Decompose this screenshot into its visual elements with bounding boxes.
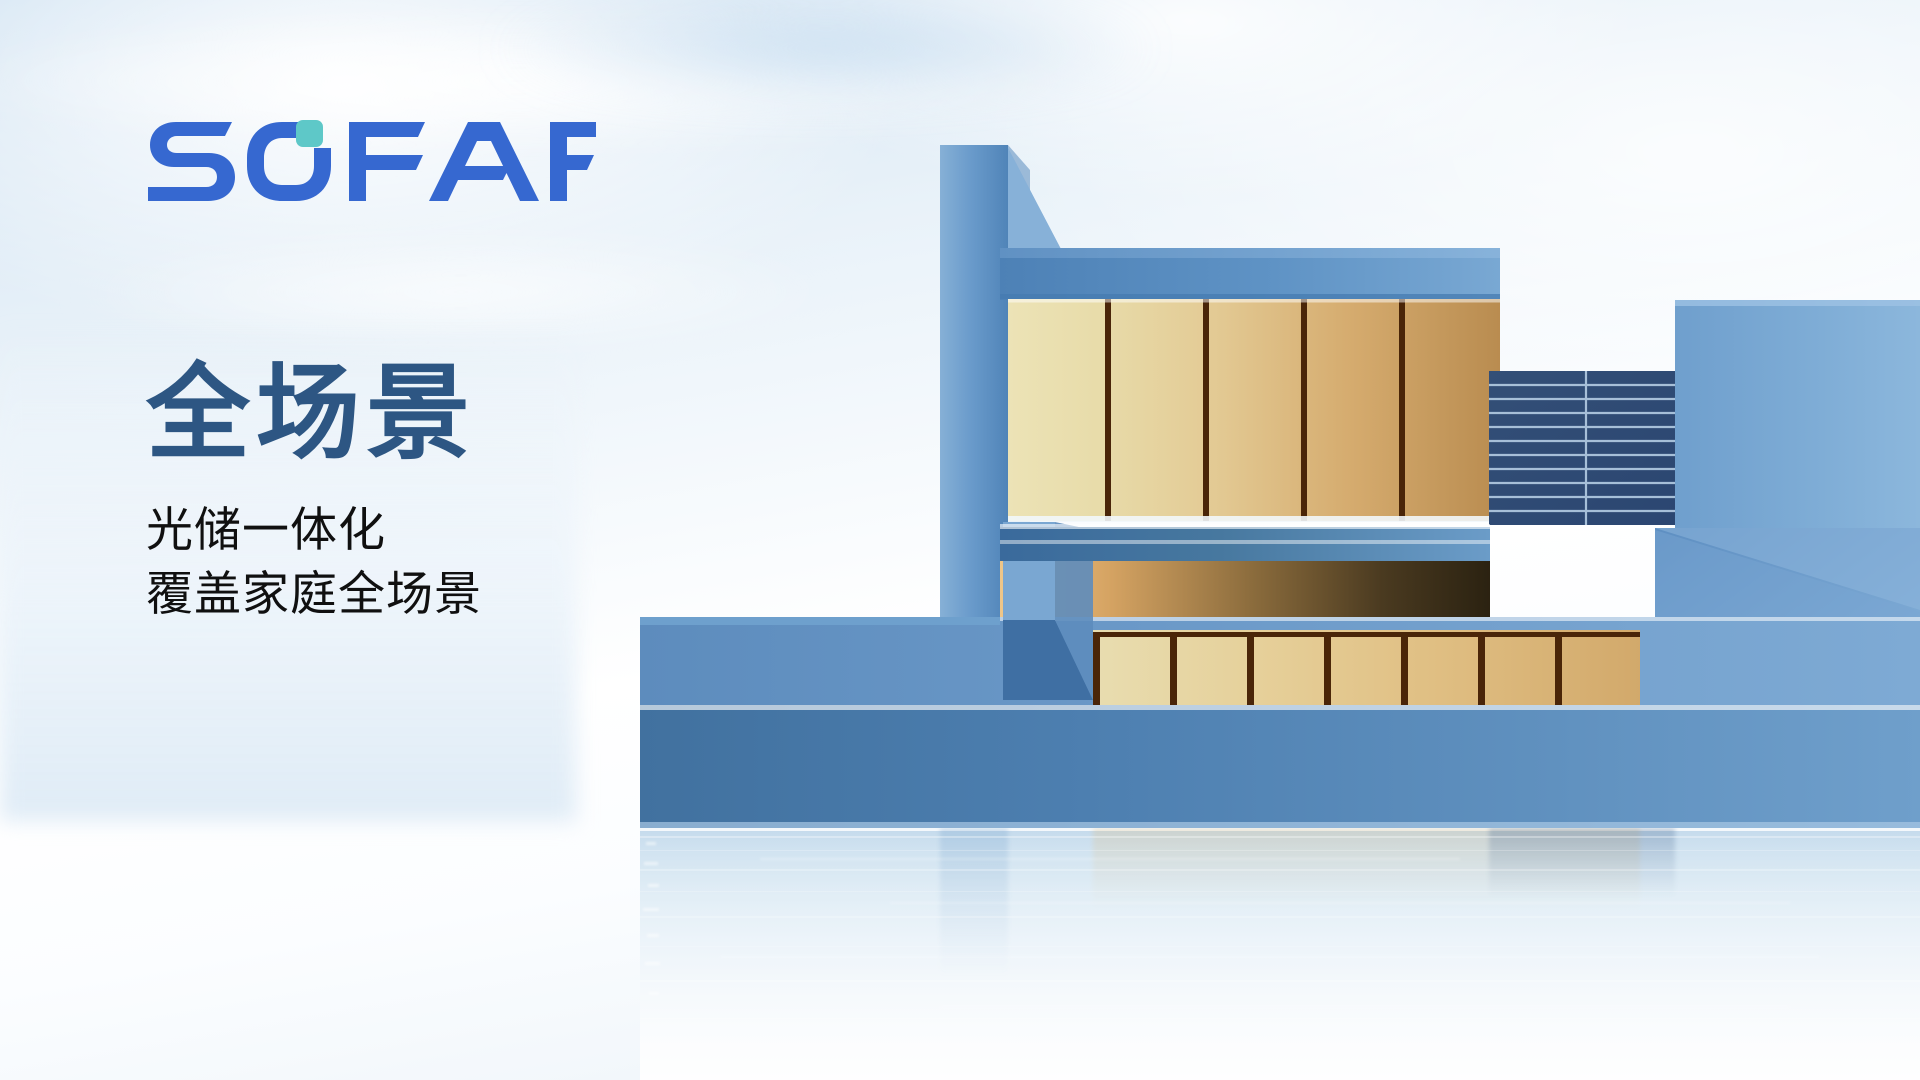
subtitle-line-1: 光储一体化: [146, 499, 766, 561]
upper-glass-facade: [1008, 299, 1500, 521]
upper-canopy-beam: [1000, 248, 1500, 300]
hero-banner: 全场景 光储一体化 覆盖家庭全场景: [0, 0, 1920, 1080]
mid-slab-recess: [1000, 524, 1490, 561]
sofar-logo-mark: [146, 118, 596, 204]
solar-panel-array: [1489, 371, 1675, 525]
page-title: 全场景: [146, 359, 766, 469]
water-reflection: [640, 828, 1920, 1080]
subtitle: 光储一体化 覆盖家庭全场景: [146, 499, 766, 625]
hero-text-block: 全场景 光储一体化 覆盖家庭全场景: [146, 118, 766, 627]
logo-accent-dot: [296, 120, 323, 147]
sofar-logo[interactable]: [146, 118, 596, 204]
right-wing-wall: [1675, 300, 1920, 528]
subtitle-line-2: 覆盖家庭全场景: [146, 563, 766, 625]
water-sheen: [640, 828, 1920, 1080]
base-plinth: [640, 705, 1920, 829]
